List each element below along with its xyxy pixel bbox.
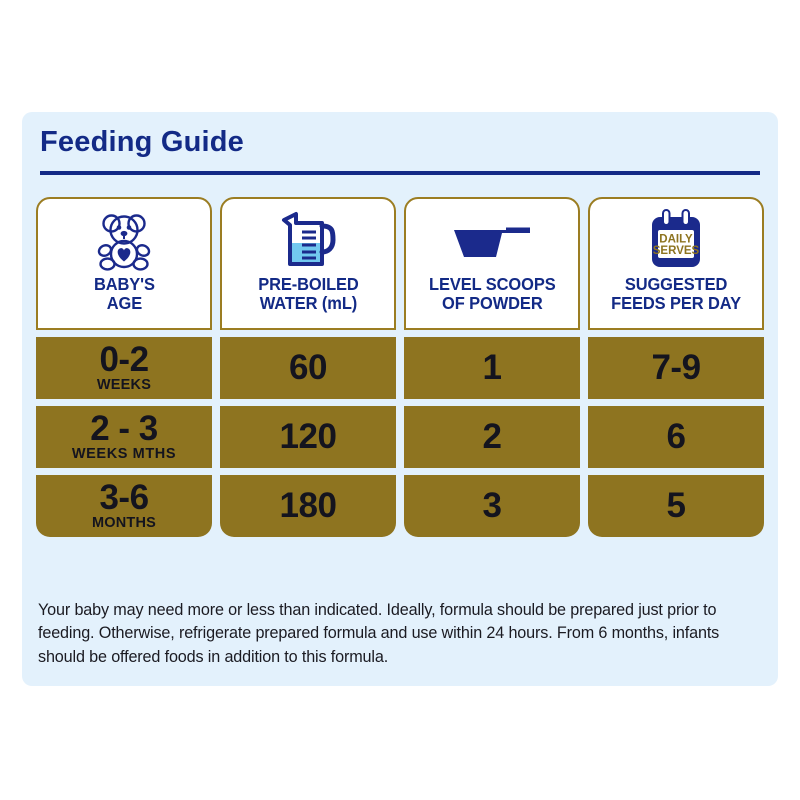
header-label-pre-boiled-water: PRE-BOILED WATER (mL) bbox=[258, 275, 359, 312]
cell-scoops-value: 2 bbox=[483, 420, 502, 453]
header-label-level-scoops: LEVEL SCOOPS OF POWDER bbox=[429, 275, 556, 312]
cell-age-unit: WEEKS bbox=[97, 378, 151, 393]
row-3-feeds: 5 bbox=[588, 475, 764, 537]
cell-age-value: 3-6 bbox=[99, 481, 148, 514]
cell-water-row1: 60 bbox=[220, 337, 396, 399]
header-label-line1: BABY'S bbox=[94, 275, 155, 294]
title-divider bbox=[40, 171, 760, 175]
teddy-bear-icon bbox=[94, 207, 154, 275]
cell-feeds-row3: 5 bbox=[588, 475, 764, 537]
row-2-age: 2 - 3 WEEKS MTHS bbox=[36, 406, 212, 468]
header-label-suggested-feeds: SUGGESTED FEEDS PER DAY bbox=[611, 275, 741, 312]
row-1-age: 0-2 WEEKS bbox=[36, 337, 212, 399]
calendar-text-serves: SERVES bbox=[653, 245, 700, 257]
cell-age-value: 0-2 bbox=[99, 343, 148, 376]
row-1-scoops: 1 bbox=[404, 337, 580, 399]
cell-feeds-row1: 7-9 bbox=[588, 337, 764, 399]
cell-scoops-row1: 1 bbox=[404, 337, 580, 399]
cell-water-value: 180 bbox=[280, 489, 337, 522]
cell-feeds-value: 6 bbox=[667, 420, 686, 453]
header-label-line1: SUGGESTED bbox=[611, 275, 741, 294]
header-label-line2: WATER (mL) bbox=[258, 294, 359, 313]
column-babys-age: BABY'S AGE 0-2 WEEKS 2 - 3 WEEKS MTHS bbox=[36, 197, 212, 537]
cell-age-row1: 0-2 WEEKS bbox=[36, 337, 212, 399]
cell-feeds-value: 5 bbox=[667, 489, 686, 522]
daily-serves-calendar-icon: DAILY SERVES bbox=[647, 207, 705, 275]
header-label-line1: LEVEL SCOOPS bbox=[429, 275, 556, 294]
footer-note: Your baby may need more or less than ind… bbox=[38, 599, 764, 669]
cell-age-row2: 2 - 3 WEEKS MTHS bbox=[36, 406, 212, 468]
cell-water-row2: 120 bbox=[220, 406, 396, 468]
feeding-guide-panel: Feeding Guide bbox=[22, 112, 778, 686]
page-root: Feeding Guide bbox=[0, 0, 800, 800]
cell-water-value: 60 bbox=[289, 351, 327, 384]
column-pre-boiled-water: PRE-BOILED WATER (mL) 60 120 18 bbox=[220, 197, 396, 537]
scoop-icon bbox=[450, 207, 534, 275]
column-level-scoops: LEVEL SCOOPS OF POWDER 1 2 3 bbox=[404, 197, 580, 537]
page-title: Feeding Guide bbox=[40, 126, 244, 159]
header-cell-level-scoops: LEVEL SCOOPS OF POWDER bbox=[404, 197, 580, 330]
row-1-feeds: 7-9 bbox=[588, 337, 764, 399]
cell-age-value: 2 - 3 bbox=[90, 412, 158, 445]
cell-scoops-value: 1 bbox=[483, 351, 502, 384]
cell-age-row3: 3-6 MONTHS bbox=[36, 475, 212, 537]
column-suggested-feeds: DAILY SERVES SUGGESTED FEEDS PER DAY 7-9 bbox=[588, 197, 764, 537]
header-cell-suggested-feeds: DAILY SERVES SUGGESTED FEEDS PER DAY bbox=[588, 197, 764, 330]
cell-feeds-value: 7-9 bbox=[651, 351, 700, 384]
header-label-line2: AGE bbox=[94, 294, 155, 313]
row-3-water: 180 bbox=[220, 475, 396, 537]
header-label-line1: PRE-BOILED bbox=[258, 275, 359, 294]
cell-water-value: 120 bbox=[280, 420, 337, 453]
row-1-water: 60 bbox=[220, 337, 396, 399]
calendar-text-daily: DAILY bbox=[659, 234, 693, 246]
row-3-scoops: 3 bbox=[404, 475, 580, 537]
row-3-age: 3-6 MONTHS bbox=[36, 475, 212, 537]
cell-age-unit: WEEKS MTHS bbox=[72, 447, 176, 462]
header-cell-pre-boiled-water: PRE-BOILED WATER (mL) bbox=[220, 197, 396, 330]
cell-feeds-row2: 6 bbox=[588, 406, 764, 468]
row-2-water: 120 bbox=[220, 406, 396, 468]
cell-age-unit: MONTHS bbox=[92, 516, 156, 531]
row-2-feeds: 6 bbox=[588, 406, 764, 468]
cell-scoops-value: 3 bbox=[483, 489, 502, 522]
feeding-guide-table: BABY'S AGE 0-2 WEEKS 2 - 3 WEEKS MTHS bbox=[36, 197, 764, 537]
header-label-babys-age: BABY'S AGE bbox=[94, 275, 155, 312]
header-cell-babys-age: BABY'S AGE bbox=[36, 197, 212, 330]
cell-scoops-row2: 2 bbox=[404, 406, 580, 468]
row-2-scoops: 2 bbox=[404, 406, 580, 468]
cell-scoops-row3: 3 bbox=[404, 475, 580, 537]
header-label-line2: OF POWDER bbox=[429, 294, 556, 313]
cell-water-row3: 180 bbox=[220, 475, 396, 537]
header-label-line2: FEEDS PER DAY bbox=[611, 294, 741, 313]
measuring-jug-icon bbox=[276, 207, 340, 275]
